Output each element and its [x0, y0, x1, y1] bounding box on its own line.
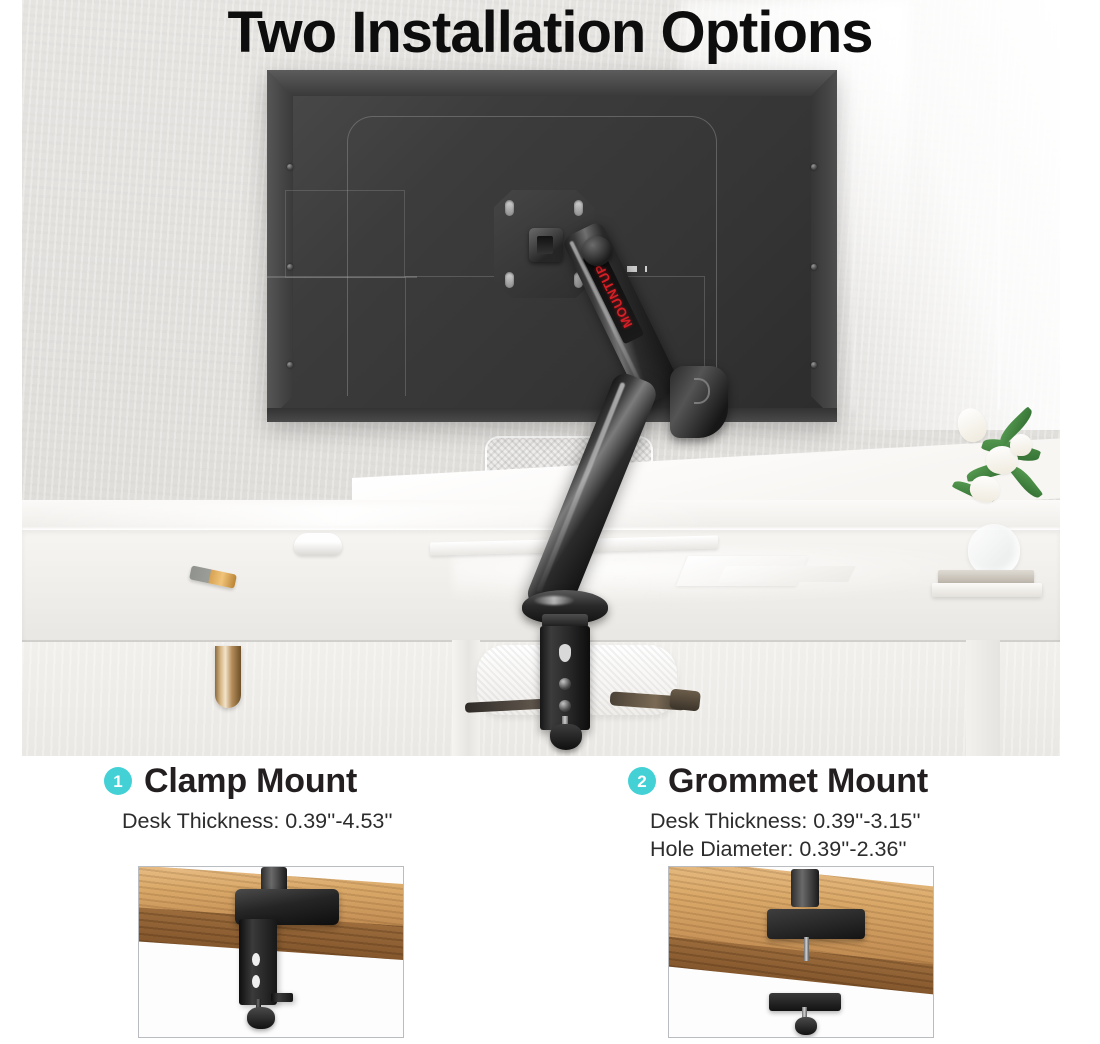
mount-post: [791, 869, 819, 907]
monitor-bevel-bottom: [267, 408, 837, 422]
vesa-screw-slot: [574, 200, 583, 216]
book-stack-upper: [932, 583, 1042, 597]
book-stack-lower: [938, 570, 1034, 584]
vesa-hub: [529, 228, 563, 262]
gold-chrome-leg: [215, 646, 241, 708]
option-clamp-mount: 1 Clamp Mount Desk Thickness: 0.39''-4.5…: [64, 756, 564, 836]
clamp-tightening-knob: [550, 724, 582, 750]
option-2-title: Grommet Mount: [668, 762, 928, 801]
grommet-knob: [795, 1017, 817, 1035]
option-2-spec-hole: Hole Diameter: 0.39''-2.36'': [650, 836, 1100, 864]
vesa-hub-inner: [537, 236, 553, 254]
grommet-base-plate: [767, 909, 865, 939]
desk-leg-left: [452, 640, 480, 756]
monitor-screw: [287, 164, 293, 170]
clamp-screw: [559, 700, 571, 712]
grommet-threaded-rod-upper: [804, 937, 809, 961]
vesa-screw-slot: [505, 200, 514, 216]
clamp-slot: [252, 953, 260, 966]
arm-tilt-joint: [582, 236, 612, 266]
grommet-mount-thumbnail: [668, 866, 934, 1038]
monitor-screw: [811, 264, 817, 270]
option-1-specs: Desk Thickness: 0.39''-4.53'': [64, 808, 564, 836]
monitor-screw: [287, 362, 293, 368]
option-1-header: 1 Clamp Mount: [64, 756, 564, 806]
clamp-screw: [559, 678, 571, 690]
monitor-screw: [811, 362, 817, 368]
mouse: [294, 533, 342, 555]
option-2-specs: Desk Thickness: 0.39''-3.15'' Hole Diame…: [600, 808, 1100, 863]
option-1-spec-thickness: Desk Thickness: 0.39''-4.53'': [122, 808, 564, 836]
option-grommet-mount: 2 Grommet Mount Desk Thickness: 0.39''-3…: [600, 756, 1100, 863]
option-2-spec-thickness: Desk Thickness: 0.39''-3.15'': [650, 808, 1100, 836]
monitor-screw: [811, 164, 817, 170]
option-2-header: 2 Grommet Mount: [600, 756, 1100, 806]
monitor-left-panel: [285, 190, 405, 278]
product-infographic: MOUNTUP Two Installation Options 1 Clamp…: [0, 0, 1100, 1044]
flower-arrangement: [936, 390, 1046, 540]
monitor-bevel-top: [267, 70, 837, 96]
page-title: Two Installation Options: [0, 0, 1100, 70]
monitor-bevel-right: [811, 70, 837, 422]
option-2-number-badge: 2: [628, 767, 656, 795]
clamp-slot: [252, 975, 260, 988]
glass-vase: [968, 524, 1020, 576]
clamp-knob: [247, 1007, 275, 1029]
page-title-text: Two Installation Options: [227, 0, 872, 65]
vesa-screw-slot: [505, 272, 514, 288]
option-1-number-badge: 1: [104, 767, 132, 795]
chair-arm-right-end: [669, 688, 701, 711]
installation-options: 1 Clamp Mount Desk Thickness: 0.39''-4.5…: [0, 756, 1100, 1044]
desk-gloss-highlight: [22, 503, 722, 529]
option-1-title: Clamp Mount: [144, 762, 357, 801]
clamp-bottom-jaw: [271, 993, 293, 1002]
paper-stack-2: [718, 566, 856, 582]
hero-photo: MOUNTUP: [22, 0, 1060, 756]
arm-base-highlight: [534, 596, 574, 605]
desk-leg-right: [966, 640, 1000, 756]
clamp-mount-thumbnail: [138, 866, 404, 1038]
monitor-screw: [287, 264, 293, 270]
clamp-keyhole-slot: [559, 644, 571, 662]
